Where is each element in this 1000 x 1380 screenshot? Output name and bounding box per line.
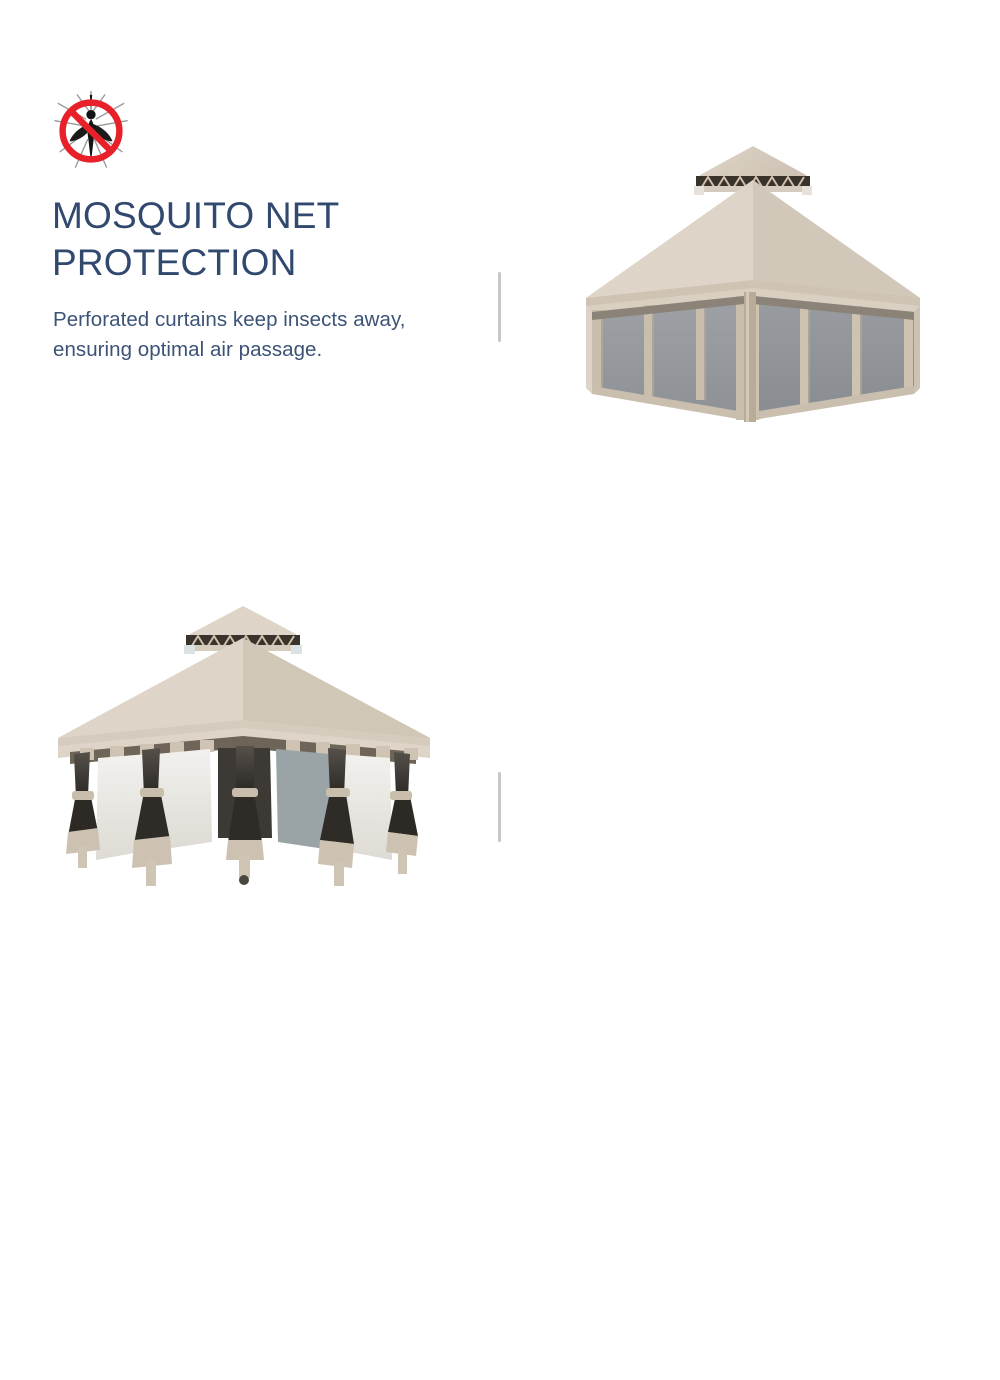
- section-divider-top: [498, 272, 501, 342]
- product-image-gazebo-with-closed-netting: [548, 120, 958, 430]
- no-mosquito-icon: [48, 88, 134, 174]
- infographic-page: MOSQUITO NET PROTECTION Perforated curta…: [0, 0, 1000, 1000]
- feature-block-easy-assembly: EASY ASSEMBLY The structure is assembled…: [500, 500, 1000, 1000]
- feature-block-mosquito-net-protection: MOSQUITO NET PROTECTION Perforated curta…: [0, 0, 500, 500]
- product-image-gazebo-with-tied-curtains: [38, 588, 474, 914]
- page-title-mosquito-net-protection: MOSQUITO NET PROTECTION: [52, 192, 472, 286]
- feature-description-mosquito-net-protection: Perforated curtains keep insects away, e…: [53, 305, 483, 365]
